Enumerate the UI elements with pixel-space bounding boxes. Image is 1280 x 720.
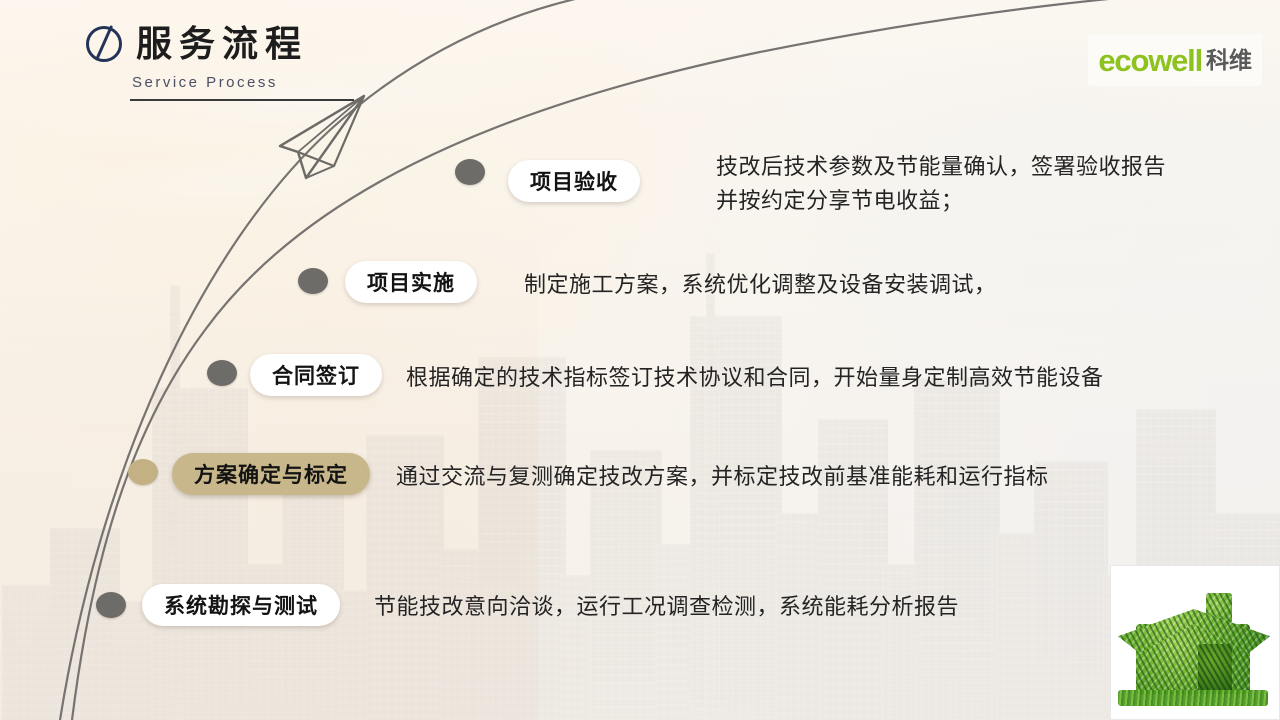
brand-logo: ecowell 科维 <box>1088 34 1262 86</box>
title-underline <box>130 99 354 101</box>
step-desc-plan-calibration: 通过交流与复测确定技改方案，并标定技改前基准能耗和运行指标 <box>396 460 1049 494</box>
page-subtitle: Service Process <box>132 74 416 91</box>
step-row-contract: 合同签订 <box>250 354 382 396</box>
house-illustration <box>1110 565 1280 720</box>
step-row-acceptance: 项目验收 <box>508 160 640 202</box>
step-label-plan-calibration[interactable]: 方案确定与标定 <box>172 453 370 495</box>
step-label-survey-test[interactable]: 系统勘探与测试 <box>142 584 340 626</box>
step-node-acceptance[interactable] <box>455 159 485 185</box>
house-door <box>1198 644 1232 694</box>
step-node-contract[interactable] <box>207 360 237 386</box>
slide-canvas: 服务流程 Service Process ecowell 科维 项目验收 技改后… <box>0 0 1280 720</box>
step-row-survey-test: 系统勘探与测试 <box>142 584 340 626</box>
step-desc-acceptance: 技改后技术参数及节能量确认，签署验收报告 并按约定分享节电收益； <box>716 150 1280 218</box>
step-node-plan-calibration[interactable] <box>128 459 158 485</box>
step-label-acceptance[interactable]: 项目验收 <box>508 160 640 202</box>
null-slashed-circle-icon <box>86 26 122 62</box>
green-grass-house-photo <box>1110 565 1280 720</box>
brand-logo-en: ecowell <box>1098 45 1202 76</box>
step-desc-line1: 制定施工方案，系统优化调整及设备安装调试， <box>524 272 997 297</box>
house-grass-ground <box>1118 690 1268 706</box>
page-title: 服务流程 <box>136 26 308 62</box>
step-desc-line1: 根据确定的技术指标签订技术协议和合同，开始量身定制高效节能设备 <box>406 365 1104 390</box>
page-title-block: 服务流程 Service Process <box>86 26 416 101</box>
step-desc-contract: 根据确定的技术指标签订技术协议和合同，开始量身定制高效节能设备 <box>406 361 1104 395</box>
step-node-survey-test[interactable] <box>96 592 126 618</box>
step-desc-line1: 技改后技术参数及节能量确认，签署验收报告 <box>716 154 1166 179</box>
step-desc-line1: 通过交流与复测确定技改方案，并标定技改前基准能耗和运行指标 <box>396 464 1049 489</box>
step-label-implementation[interactable]: 项目实施 <box>345 261 477 303</box>
step-label-contract[interactable]: 合同签订 <box>250 354 382 396</box>
step-desc-line1: 节能技改意向洽谈，运行工况调查检测，系统能耗分析报告 <box>374 594 959 619</box>
step-row-implementation: 项目实施 <box>345 261 477 303</box>
step-desc-line2: 并按约定分享节电收益； <box>716 188 964 213</box>
step-desc-survey-test: 节能技改意向洽谈，运行工况调查检测，系统能耗分析报告 <box>374 590 959 624</box>
brand-logo-cn: 科维 <box>1206 49 1252 72</box>
step-desc-implementation: 制定施工方案，系统优化调整及设备安装调试， <box>524 268 997 302</box>
step-node-implementation[interactable] <box>298 268 328 294</box>
step-row-plan-calibration: 方案确定与标定 <box>172 453 370 495</box>
